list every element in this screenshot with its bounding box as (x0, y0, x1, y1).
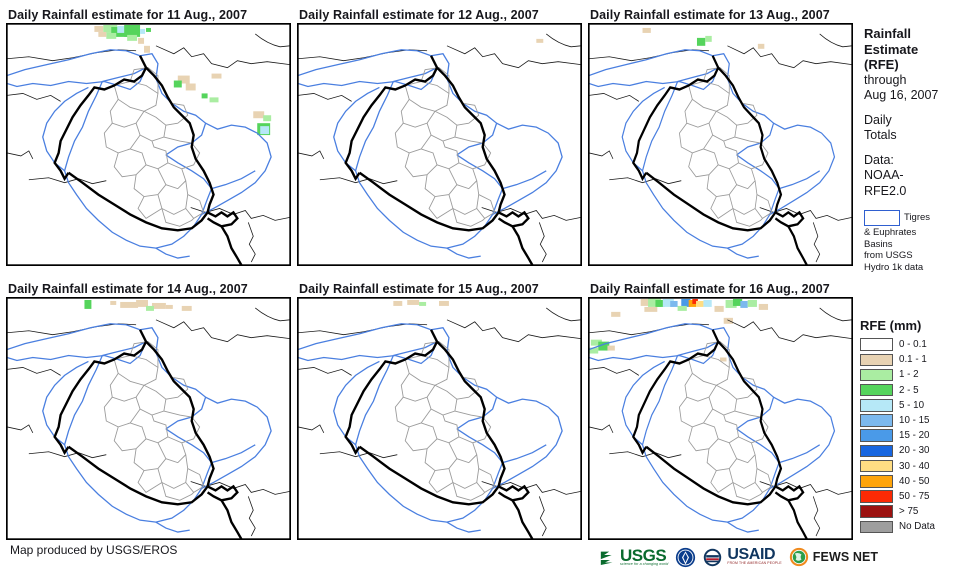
legend-swatch (860, 521, 893, 534)
map-render (7, 298, 290, 539)
legend-item: 10 - 15 (860, 413, 966, 428)
legend-label: 1 - 2 (899, 369, 919, 380)
sidebar-through-date: Aug 16, 2007 (864, 88, 967, 104)
panel-13-aug: Daily Rainfall estimate for 13 Aug., 200… (588, 7, 853, 266)
fews-wordmark: FEWS NET (813, 550, 878, 564)
sidebar-heading-line1: Rainfall (864, 26, 967, 42)
legend-label: 5 - 10 (899, 400, 924, 411)
panel-16-aug: Daily Rainfall estimate for 16 Aug., 200… (588, 281, 853, 540)
panel-title: Daily Rainfall estimate for 16 Aug., 200… (588, 281, 853, 297)
fews-globe-icon (789, 547, 809, 567)
map-frame[interactable] (297, 23, 582, 266)
legend-item: 15 - 20 (860, 428, 966, 443)
legend-label: No Data (899, 521, 935, 532)
legend-swatch (860, 369, 893, 382)
usgs-wave-icon (600, 549, 620, 566)
map-render (7, 24, 290, 265)
legend-swatch (860, 384, 893, 397)
legend-label: 15 - 20 (899, 430, 930, 441)
legend-swatch (860, 338, 893, 351)
legend-swatch (860, 505, 893, 518)
basin-legend: Tigres & Euphrates Basins from USGS Hydr… (864, 209, 967, 273)
legend-label: 0 - 0.1 (899, 339, 927, 350)
map-credit: Map produced by USGS/EROS (10, 543, 177, 557)
panel-15-aug: Daily Rainfall estimate for 15 Aug., 200… (297, 281, 582, 540)
basin-line-3: Basins (864, 239, 967, 251)
legend-label: 30 - 40 (899, 461, 930, 472)
fews-net-logo: FEWS NET (789, 547, 878, 567)
noaa-logo (675, 547, 696, 568)
panel-14-aug: Daily Rainfall estimate for 14 Aug., 200… (6, 281, 291, 540)
panel-title: Daily Rainfall estimate for 15 Aug., 200… (297, 281, 582, 297)
sidebar-totals-line1: Daily (864, 113, 967, 129)
legend-label: > 75 (899, 506, 918, 517)
basin-line-5: Hydro 1k data (864, 262, 967, 274)
panel-12-aug: Daily Rainfall estimate for 12 Aug., 200… (297, 7, 582, 266)
sidebar-data-line1: Data: (864, 153, 967, 169)
legend-swatch (860, 399, 893, 412)
sidebar-heading-line2: Estimate (864, 42, 967, 58)
basin-label: Tigres (904, 212, 930, 223)
map-render (298, 298, 581, 539)
legend-rows: 0 - 0.10.1 - 11 - 22 - 55 - 1010 - 1515 … (860, 337, 966, 534)
legend-label: 20 - 30 (899, 445, 930, 456)
legend-item: 0 - 0.1 (860, 337, 966, 352)
legend-item: 1 - 2 (860, 367, 966, 382)
usaid-logo: USAID FROM THE AMERICAN PEOPLE (703, 548, 781, 567)
sidebar-data-line3: RFE2.0 (864, 184, 967, 200)
map-frame[interactable] (297, 297, 582, 540)
legend-swatch (860, 475, 893, 488)
legend-label: 10 - 15 (899, 415, 930, 426)
legend-swatch (860, 429, 893, 442)
legend-label: 40 - 50 (899, 476, 930, 487)
usaid-tagline: FROM THE AMERICAN PEOPLE (727, 562, 781, 565)
legend-item: 2 - 5 (860, 383, 966, 398)
legend-swatch (860, 460, 893, 473)
usaid-wordmark: USAID (727, 548, 781, 562)
legend-item: 0.1 - 1 (860, 352, 966, 367)
basin-line-4: from USGS (864, 250, 967, 262)
panel-11-aug: Daily Rainfall estimate for 11 Aug., 200… (6, 7, 291, 266)
panel-title: Daily Rainfall estimate for 14 Aug., 200… (6, 281, 291, 297)
usgs-logo: USGS science for a changing world (600, 548, 668, 567)
legend-item: 50 - 75 (860, 489, 966, 504)
sidebar-heading-line3: (RFE) (864, 57, 967, 73)
legend-item: No Data (860, 519, 966, 534)
usgs-wordmark: USGS (620, 548, 668, 563)
legend-title: RFE (mm) (860, 318, 966, 333)
panel-title: Daily Rainfall estimate for 12 Aug., 200… (297, 7, 582, 23)
legend-swatch (860, 414, 893, 427)
panel-title: Daily Rainfall estimate for 13 Aug., 200… (588, 7, 853, 23)
rfe-legend: RFE (mm) 0 - 0.10.1 - 11 - 22 - 55 - 101… (860, 318, 966, 534)
legend-label: 2 - 5 (899, 385, 919, 396)
legend-swatch (860, 445, 893, 458)
legend-item: 5 - 10 (860, 398, 966, 413)
legend-swatch (860, 490, 893, 503)
legend-item: 30 - 40 (860, 459, 966, 474)
legend-item: 40 - 50 (860, 474, 966, 489)
panel-title: Daily Rainfall estimate for 11 Aug., 200… (6, 7, 291, 23)
usaid-seal-icon (703, 548, 722, 567)
legend-item: 20 - 30 (860, 443, 966, 458)
basin-line-2: & Euphrates (864, 227, 967, 239)
map-render (589, 298, 852, 539)
sidebar-through: through (864, 73, 967, 89)
map-frame[interactable] (6, 297, 291, 540)
legend-swatch (860, 354, 893, 367)
map-render (298, 24, 581, 265)
legend-item: > 75 (860, 504, 966, 519)
sidebar-data-line2: NOAA- (864, 168, 967, 184)
usgs-tagline: science for a changing world (620, 563, 668, 567)
map-frame[interactable] (588, 23, 853, 266)
map-frame[interactable] (588, 297, 853, 540)
map-frame[interactable] (6, 23, 291, 266)
noaa-seal-icon (675, 547, 696, 568)
sidebar-totals-line2: Totals (864, 128, 967, 144)
basin-swatch (864, 210, 900, 226)
legend-label: 50 - 75 (899, 491, 930, 502)
logo-strip: USGS science for a changing world (600, 542, 878, 572)
map-render (589, 24, 852, 265)
legend-label: 0.1 - 1 (899, 354, 927, 365)
